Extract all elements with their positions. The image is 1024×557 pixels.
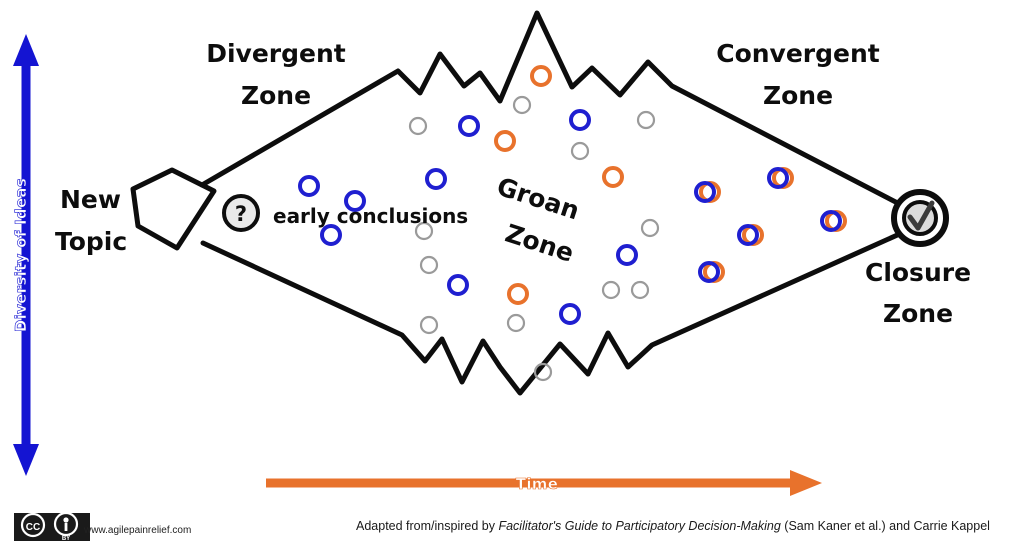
- idea-dot-blue: [460, 117, 478, 135]
- idea-dot-gray: [572, 143, 588, 159]
- zone-label-groan-line1: Groan: [493, 172, 583, 226]
- annotation-early-conclusions: early conclusions: [273, 204, 468, 228]
- zone-label-divergent: Divergent Zone: [206, 39, 346, 110]
- entry-diamond: [133, 170, 214, 248]
- idea-dot-blue: [618, 246, 636, 264]
- credit-prefix: Adapted from/inspired by: [356, 519, 498, 533]
- idea-dot-gray: [421, 257, 437, 273]
- idea-dot-gray: [603, 282, 619, 298]
- idea-dot-orange: [496, 132, 514, 150]
- start-label-line2: Topic: [55, 227, 127, 256]
- vertical-axis-label: Diversity of Ideas: [12, 178, 30, 332]
- zone-label-convergent-line2: Zone: [763, 81, 833, 110]
- idea-dot-blue: [571, 111, 589, 129]
- vertical-axis-arrow-down: [13, 444, 39, 476]
- end-marker-check[interactable]: [894, 192, 946, 244]
- idea-dot-gray: [410, 118, 426, 134]
- credit-suffix: (Sam Kaner et al.) and Carrie Kappel: [781, 519, 990, 533]
- zone-label-groan: Groan Zone: [480, 172, 590, 268]
- zone-label-closure: Closure Zone: [865, 258, 971, 328]
- idea-dot-blue: [561, 305, 579, 323]
- decision-diamond-diagram: Diversity of Ideas Time ?: [0, 0, 1024, 557]
- horizontal-axis-time: Time: [266, 470, 822, 496]
- idea-dot-orange: [604, 168, 622, 186]
- idea-dot-gray: [421, 317, 437, 333]
- idea-dot-orange: [509, 285, 527, 303]
- start-label-line1: New: [60, 185, 121, 214]
- cc-label: CC: [26, 522, 40, 533]
- vertical-axis-diversity-of-ideas: Diversity of Ideas: [12, 34, 39, 476]
- by-person-body-icon: [65, 523, 68, 531]
- idea-dot-gray: [642, 220, 658, 236]
- idea-dot-gray: [632, 282, 648, 298]
- start-label-new-topic: New Topic: [55, 185, 127, 256]
- site-url[interactable]: www.agilepainrelief.com: [83, 525, 191, 536]
- horizontal-axis-arrow-right: [790, 470, 822, 496]
- zone-label-groan-line2: Zone: [502, 219, 578, 268]
- credit-line: Adapted from/inspired by Facilitator's G…: [356, 519, 990, 533]
- idea-dot-blue: [300, 177, 318, 195]
- diagram-canvas: Diversity of Ideas Time ?: [0, 0, 1024, 557]
- credit-title: Facilitator's Guide to Participatory Dec…: [498, 519, 780, 533]
- zone-label-convergent-line1: Convergent: [716, 39, 880, 68]
- vertical-axis-arrow-up: [13, 34, 39, 66]
- zone-label-divergent-line1: Divergent: [206, 39, 346, 68]
- by-person-head-icon: [63, 517, 68, 522]
- by-label: BY: [62, 536, 70, 542]
- idea-dot-blue: [449, 276, 467, 294]
- idea-dot-gray: [638, 112, 654, 128]
- zone-label-closure-line1: Closure: [865, 258, 971, 287]
- idea-dot-orange: [532, 67, 550, 85]
- zone-label-closure-line2: Zone: [883, 299, 953, 328]
- start-marker-question[interactable]: ?: [224, 196, 258, 230]
- idea-dot-gray: [514, 97, 530, 113]
- horizontal-axis-label: Time: [516, 475, 558, 493]
- license-badge[interactable]: CC BY: [14, 513, 90, 542]
- idea-dot-gray: [508, 315, 524, 331]
- idea-dot-blue: [427, 170, 445, 188]
- idea-dot-blue: [322, 226, 340, 244]
- question-mark-glyph: ?: [235, 202, 247, 226]
- zone-label-convergent: Convergent Zone: [716, 39, 880, 110]
- zone-label-divergent-line2: Zone: [241, 81, 311, 110]
